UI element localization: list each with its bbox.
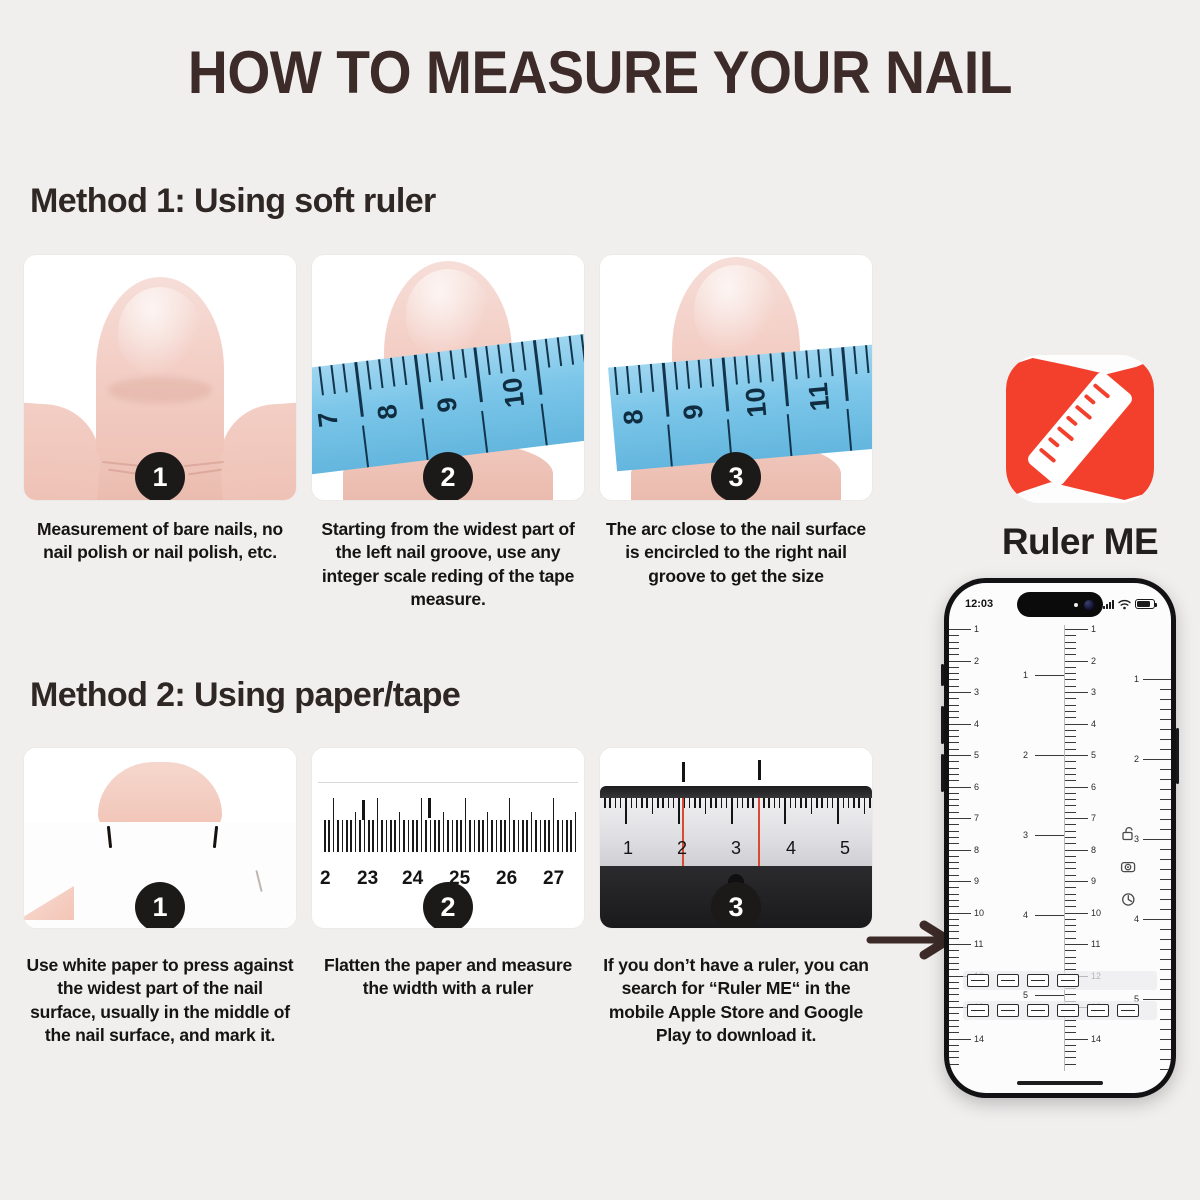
ruler-tick-minor (949, 875, 959, 876)
step-image-m1-3: 8 9 10 11 3 (600, 255, 872, 500)
ruler-tick-minor (949, 837, 959, 838)
ruler-tick-minor (949, 1064, 959, 1065)
ruler-tick-minor (949, 1013, 959, 1014)
ruler-tick-minor (949, 1057, 959, 1058)
ruler-tick (425, 820, 427, 852)
ruler-tick (544, 820, 546, 852)
ruler-number: 8 (974, 845, 979, 855)
ruler-tick-minor (949, 950, 959, 951)
ruler-number: 7 (974, 813, 979, 823)
ruler-tick (491, 820, 493, 852)
ruler-tick-minor (1160, 929, 1171, 930)
ruler-tick (1035, 835, 1065, 836)
method-1-heading: Method 1: Using soft ruler (30, 182, 436, 221)
ruler-tick (381, 820, 383, 852)
ruler-tick (509, 798, 511, 852)
step-card-m2-3: 1 2 3 4 5 3 If you don’t have a ruler, y… (600, 748, 872, 1047)
ruler-number: 5 (840, 838, 850, 859)
ruler-tick (500, 820, 502, 852)
ruler-tick (662, 798, 664, 808)
ruler-tick (1143, 759, 1171, 760)
ruler-tick-minor (1160, 769, 1171, 770)
step-image-m1-1: 1 (24, 255, 296, 500)
step-card-m2-1: 1 Use white paper to press against the w… (24, 748, 296, 1047)
ruler-tick (625, 798, 627, 824)
step-card-m1-3: 8 9 10 11 3 The arc close to the nail su… (600, 255, 872, 611)
ruler-tick-minor (949, 1051, 959, 1052)
ruler-number: 6 (974, 782, 979, 792)
ruler-tick (705, 798, 707, 814)
tool-chip[interactable] (997, 974, 1019, 987)
ruler-tick (657, 798, 659, 808)
ruler-tick-minor (949, 705, 959, 706)
ruler-tick (355, 812, 357, 852)
tool-chip[interactable] (1027, 1004, 1049, 1017)
ruler-tick-minor (1160, 719, 1171, 720)
ruler-tick-minor (1064, 717, 1076, 718)
ruler-tick-minor (1064, 868, 1076, 869)
ruler-tick-minor (1160, 969, 1171, 970)
step-image-m1-2: 7 8 9 10 2 (312, 255, 584, 500)
ruler-tick (1064, 724, 1088, 725)
ruler-tick-minor (949, 969, 959, 970)
ruler-number: 2 (1091, 656, 1096, 666)
ruler-tick (699, 798, 701, 808)
ruler-tick-minor (949, 938, 959, 939)
tape-number: 7 (312, 410, 345, 429)
pencil-mark-left (682, 762, 685, 782)
ruler-tick (1035, 995, 1065, 996)
clock-icon[interactable] (1120, 891, 1137, 908)
ruler-tick-minor (1064, 856, 1076, 857)
ruler-tick (673, 798, 675, 808)
ruler-tick (394, 820, 396, 852)
ruler-tick (1064, 629, 1088, 630)
ruler-tick-minor (949, 711, 959, 712)
ruler-tick (390, 820, 392, 852)
ruler-app-icon[interactable] (1006, 355, 1154, 503)
power-button[interactable] (1176, 728, 1179, 784)
ruler-tick-minor (1160, 1069, 1171, 1070)
method-2-steps-row: 1 Use white paper to press against the w… (24, 748, 872, 1047)
ruler-tick-minor (949, 824, 959, 825)
tool-chip[interactable] (1057, 974, 1079, 987)
pencil-mark-left (362, 800, 365, 820)
ruler-tick (570, 820, 572, 852)
ruler-tick-minor (1064, 686, 1076, 687)
ruler-tick (518, 820, 520, 852)
ruler-tick (1064, 692, 1088, 693)
ruler-tick-minor (949, 774, 959, 775)
ruler-tick-minor (949, 768, 959, 769)
ruler-tick-minor (1160, 909, 1171, 910)
ruler-tick (399, 812, 401, 852)
ruler-tick-minor (1064, 768, 1076, 769)
ruler-tick (1035, 675, 1065, 676)
tool-strip-row-1[interactable] (963, 971, 1157, 990)
ruler-tick (416, 820, 418, 852)
ruler-tick-minor (1160, 799, 1171, 800)
ruler-tick (478, 820, 480, 852)
ruler-tick (949, 661, 971, 662)
ruler-tick (949, 1039, 971, 1040)
mute-switch[interactable] (941, 664, 944, 686)
step-badge: 1 (135, 452, 185, 500)
ruler-number: 11 (974, 939, 983, 949)
tool-chip[interactable] (997, 1004, 1019, 1017)
ruler-tick (1064, 755, 1088, 756)
ruler-tick (346, 820, 348, 852)
ruler-tick (694, 798, 696, 808)
ruler-tick-minor (1160, 779, 1171, 780)
ruler-number: 9 (974, 876, 979, 886)
ruler-tick-minor (949, 761, 959, 762)
ruler-tick (747, 798, 749, 808)
ruler-tick-minor (1160, 819, 1171, 820)
ruler-tick (443, 812, 445, 852)
ruler-tick-minor (1064, 900, 1076, 901)
ruler-tick (487, 812, 489, 852)
ruler-tick-minor (949, 698, 959, 699)
ruler-tick-minor (949, 894, 959, 895)
ruler-tick-minor (949, 667, 959, 668)
ruler-tick (858, 798, 860, 808)
ruler-number: 5 (974, 750, 979, 760)
ruler-number: 1 (1134, 674, 1139, 684)
volume-up-button[interactable] (941, 706, 944, 744)
camera-icon[interactable] (1120, 858, 1137, 875)
ruler-tick-minor (1064, 894, 1076, 895)
ruler-tick-minor (949, 868, 959, 869)
ruler-tick (386, 820, 388, 852)
ruler-tick (726, 798, 728, 808)
ruler-tick-minor (949, 805, 959, 806)
ruler-tick (816, 798, 818, 808)
tape-number: 9 (431, 395, 464, 414)
ruler-tick-minor (1160, 1039, 1171, 1040)
ruler-tick (949, 850, 971, 851)
ruler-tick-minor (1064, 673, 1076, 674)
ruler-tick (430, 820, 432, 852)
ruler-tick (333, 798, 335, 852)
ruler-tick (1143, 679, 1171, 680)
ruler-tick (434, 820, 436, 852)
ruler-tick-minor (949, 931, 959, 932)
ruler-tick-minor (1064, 837, 1076, 838)
ruler-tick-minor (949, 925, 959, 926)
tape-number: 11 (803, 381, 836, 412)
method-2-heading: Method 2: Using paper/tape (30, 676, 460, 715)
ruler-tick (689, 798, 691, 808)
ruler-tick (562, 820, 564, 852)
ruler-number: 5 (1091, 750, 1096, 760)
tool-chip[interactable] (1087, 1004, 1109, 1017)
ruler-tick (609, 798, 611, 808)
ruler-tick-minor (1160, 1019, 1171, 1020)
step-badge: 2 (423, 452, 473, 500)
tool-chip[interactable] (1057, 1004, 1079, 1017)
ruler-tick (408, 820, 410, 852)
ruler-tick-minor (1064, 1045, 1076, 1046)
ruler-tick (460, 820, 462, 852)
ruler-tick-minor (1064, 793, 1076, 794)
tape-number: 10 (497, 376, 531, 410)
ruler-tick (684, 798, 686, 808)
ruler-tick (421, 798, 423, 852)
ruler-number: 2 (974, 656, 979, 666)
ruler-tick-minor (1160, 979, 1171, 980)
ruler-tick-minor (949, 780, 959, 781)
ruler-tick (949, 692, 971, 693)
tape-number: 9 (678, 403, 710, 421)
ruler-tick-minor (949, 642, 959, 643)
ruler-tick-minor (1064, 730, 1076, 731)
ruler-number: 11 (1091, 939, 1100, 949)
ruler-tick (837, 798, 839, 824)
ruler-tick-minor (1064, 919, 1076, 920)
app-promo[interactable]: Ruler ME (985, 355, 1175, 563)
ruler-tick-minor (949, 799, 959, 800)
ruler-tick (949, 913, 971, 914)
ruler-tick-minor (949, 843, 959, 844)
ruler-tick (350, 820, 352, 852)
status-time: 12:03 (965, 598, 993, 610)
ruler-tick-minor (1064, 875, 1076, 876)
page-title: HOW TO MEASURE YOUR NAIL (48, 38, 1152, 107)
ruler-tick-minor (1160, 699, 1171, 700)
ruler-tick-minor (949, 1026, 959, 1027)
ruler-tick-minor (1064, 749, 1076, 750)
ruler-tick-minor (1160, 1059, 1171, 1060)
ruler-tick-minor (1160, 739, 1171, 740)
ruler-tick-minor (1064, 963, 1076, 964)
step-badge: 3 (711, 882, 761, 928)
ruler-tick (631, 798, 633, 808)
step-caption: Flatten the paper and measure the width … (312, 954, 584, 1001)
ruler-tick-minor (1160, 899, 1171, 900)
ruler-tick (710, 798, 712, 808)
ruler-tick (403, 820, 405, 852)
home-indicator[interactable] (1017, 1081, 1103, 1085)
ruler-number: 3 (974, 687, 979, 697)
ruler-tick (800, 798, 802, 808)
app-side-icons[interactable] (1120, 825, 1137, 908)
tool-chip[interactable] (1117, 1004, 1139, 1017)
ruler-tick-minor (949, 906, 959, 907)
infographic-page: HOW TO MEASURE YOUR NAIL Method 1: Using… (0, 0, 1200, 1200)
ruler-tick-minor (949, 1032, 959, 1033)
ruler-tick-minor (1064, 648, 1076, 649)
ruler-tick (779, 798, 781, 808)
ruler-tick (377, 798, 379, 852)
ruler-tick-minor (949, 749, 959, 750)
ruler-tick-minor (949, 730, 959, 731)
ruler-tick (949, 944, 971, 945)
phone-screen: 12:03 1234567891011 (949, 583, 1171, 1093)
ruler-tick-minor (949, 982, 959, 983)
ruler-tick (482, 820, 484, 852)
ruler-tick-minor (1064, 994, 1076, 995)
step-caption: Use white paper to press against the wid… (24, 954, 296, 1047)
ruler-tick (821, 798, 823, 808)
ruler-tick-minor (1160, 949, 1171, 950)
tool-chip[interactable] (967, 1004, 989, 1017)
ruler-tick-minor (949, 900, 959, 901)
ruler-tick (496, 820, 498, 852)
ruler-tick (949, 724, 971, 725)
ruler-tick (864, 798, 866, 814)
ruler-tick-minor (1064, 906, 1076, 907)
ruler-number: 2 (320, 868, 331, 890)
ruler-tick-minor (1160, 1009, 1171, 1010)
ruler-tick (668, 798, 670, 808)
tool-chip[interactable] (1027, 974, 1049, 987)
ruler-number: 1 (974, 624, 979, 634)
ruler-tick (474, 820, 476, 852)
tool-chip[interactable] (967, 974, 989, 987)
pencil-mark-right (428, 798, 431, 818)
step-image-m2-1: 1 (24, 748, 296, 928)
ruler-tick-minor (1160, 889, 1171, 890)
ruler-tick-minor (1064, 1064, 1076, 1065)
ruler-number: 7 (1091, 813, 1096, 823)
ruler-tick-minor (1064, 1051, 1076, 1052)
ruler-tick-minor (1064, 812, 1076, 813)
ruler-tick-minor (949, 1045, 959, 1046)
ruler-tick-minor (1160, 689, 1171, 690)
ruler-number: 4 (1023, 910, 1028, 920)
ruler-tick-minor (1064, 950, 1076, 951)
ruler-tick-minor (1160, 809, 1171, 810)
tape-number: 10 (740, 386, 774, 419)
ruler-number: 4 (786, 838, 796, 859)
ruler-number: 10 (1091, 908, 1101, 918)
ruler-tick (742, 798, 744, 808)
ruler-tick (795, 798, 797, 808)
ruler-tick (678, 798, 680, 824)
ruler-tick (1064, 818, 1088, 819)
ruler-tick (620, 798, 622, 808)
ruler-number: 1 (623, 838, 633, 859)
ruler-tick (531, 812, 533, 852)
ruler-tick (566, 820, 568, 852)
ruler-tick (752, 798, 754, 808)
ruler-tick-minor (949, 988, 959, 989)
ruler-tick-minor (1064, 654, 1076, 655)
ruler-tick-minor (1160, 869, 1171, 870)
ruler-tick (465, 798, 467, 852)
unlock-icon[interactable] (1120, 825, 1137, 842)
ruler-tick-minor (1064, 635, 1076, 636)
ruler-number: 10 (974, 908, 984, 918)
cellular-bars-icon (1103, 600, 1114, 609)
ruler-tick (535, 820, 537, 852)
ruler-tick (412, 820, 414, 852)
ruler-tick-minor (1160, 859, 1171, 860)
ruler-tick (1064, 944, 1088, 945)
ruler-tick (604, 798, 606, 808)
ruler-tick (359, 820, 361, 852)
ruler-tick (949, 629, 971, 630)
ruler-tick-minor (949, 686, 959, 687)
ruler-tick (853, 798, 855, 808)
ruler-tick (372, 820, 374, 852)
ruler-tick-minor (949, 957, 959, 958)
ruler-number: 14 (1091, 1034, 1101, 1044)
ruler-tick (768, 798, 770, 808)
ruler-tick (1064, 881, 1088, 882)
ruler-tick-minor (1160, 939, 1171, 940)
ruler-tick-minor (1160, 829, 1171, 830)
ruler-number: 24 (402, 868, 423, 890)
volume-down-button[interactable] (941, 754, 944, 792)
step-caption: Measurement of bare nails, no nail polis… (24, 518, 296, 565)
ruler-tick-minor (949, 1001, 959, 1002)
ruler-tick-minor (1160, 959, 1171, 960)
ruler-tick-minor (1064, 667, 1076, 668)
ruler-tick-minor (1160, 789, 1171, 790)
step-card-m2-2: 2 23 24 25 26 27 2 Flatten the paper and… (312, 748, 584, 1047)
ruler-number: 1 (1091, 624, 1096, 634)
tape-number: 8 (618, 408, 650, 426)
ruler-tick (553, 798, 555, 852)
ruler-tick (721, 798, 723, 808)
ruler-tick (540, 820, 542, 852)
ruler-tick-minor (949, 717, 959, 718)
ruler-tick-minor (1064, 761, 1076, 762)
ruler-tick-minor (1064, 862, 1076, 863)
pencil-mark-right (758, 760, 761, 780)
ruler-tick-minor (1160, 709, 1171, 710)
ruler-tick (337, 820, 339, 852)
step-card-m1-2: 7 8 9 10 2 Starting from the widest part… (312, 255, 584, 611)
ruler-tick (513, 820, 515, 852)
step-badge: 2 (423, 882, 473, 928)
step-caption: If you don’t have a ruler, you can searc… (600, 954, 872, 1047)
ruler-tick-minor (1064, 938, 1076, 939)
ruler-tick-minor (1064, 736, 1076, 737)
tool-strip-row-2[interactable] (963, 1001, 1157, 1020)
ruler-tick (615, 798, 617, 808)
ruler-tick-minor (949, 648, 959, 649)
ruler-tick (1035, 755, 1065, 756)
ruler-tick-minor (949, 856, 959, 857)
ruler-tick (456, 820, 458, 852)
ruler-tick-minor (1160, 879, 1171, 880)
app-name: Ruler ME (985, 521, 1175, 563)
ruler-tick-minor (1064, 1032, 1076, 1033)
ruler-tick (342, 820, 344, 852)
ruler-tick-minor (1064, 642, 1076, 643)
ruler-tick-minor (1064, 831, 1076, 832)
ruler-number: 9 (1091, 876, 1096, 886)
ruler-tick (324, 820, 326, 852)
ruler-tick (949, 818, 971, 819)
ruler-tick-minor (1160, 1029, 1171, 1030)
ruler-tick (652, 798, 654, 814)
ruler-tick-minor (1160, 749, 1171, 750)
ruler-tick (1035, 915, 1065, 916)
ruler-tick (843, 798, 845, 808)
ruler-tick (869, 798, 871, 808)
ruler-tick-minor (1064, 780, 1076, 781)
ruler-tick (452, 820, 454, 852)
ruler-tick (774, 798, 776, 808)
ruler-tick-minor (1064, 774, 1076, 775)
ruler-number: 3 (1091, 687, 1096, 697)
ruler-tick-minor (1064, 957, 1076, 958)
ruler-tick (1064, 661, 1088, 662)
